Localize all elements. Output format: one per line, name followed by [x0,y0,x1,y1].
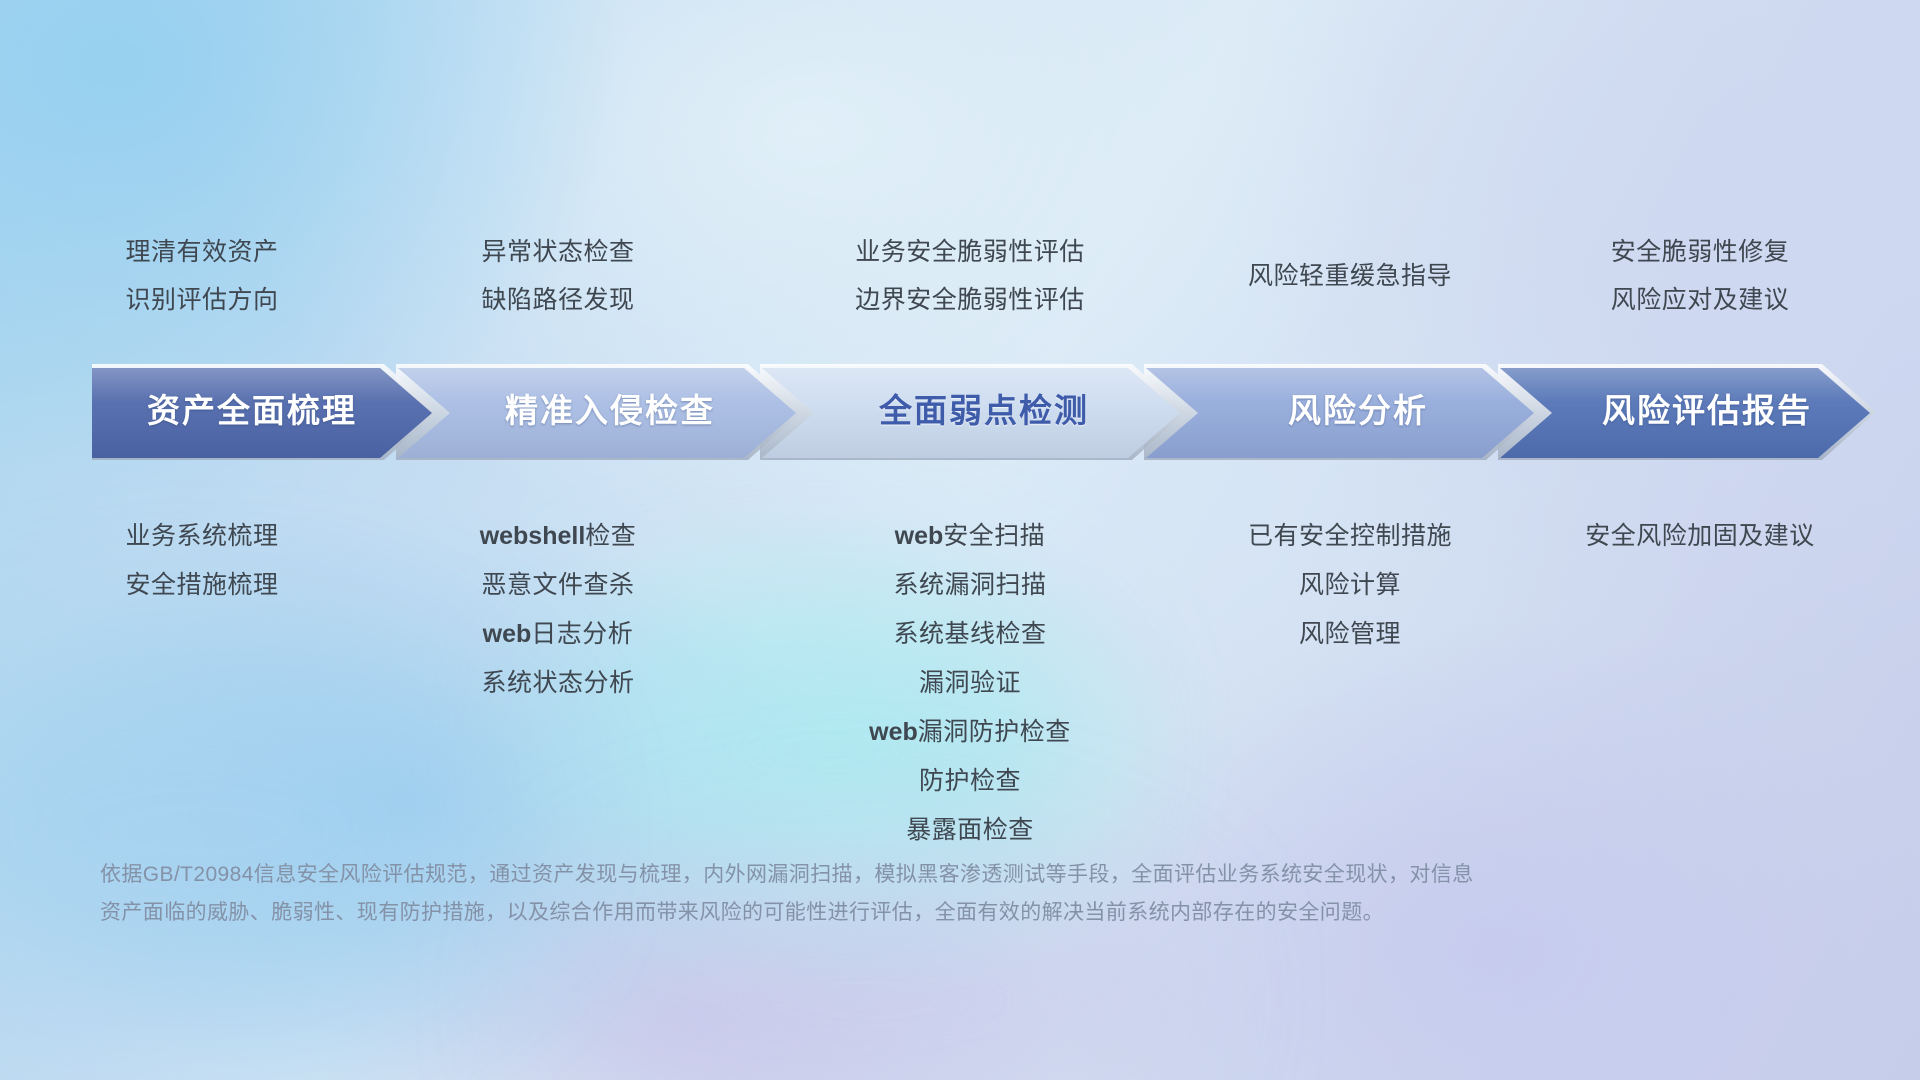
post-item: 恶意文件查杀 [392,561,724,610]
post-list: webshell检查恶意文件查杀web日志分析系统状态分析 [392,512,724,708]
post-item: 系统基线检查 [760,610,1180,659]
post-item: 风险计算 [1140,561,1560,610]
post-item: web日志分析 [392,610,724,659]
post-item: web安全扫描 [760,512,1180,561]
post-item-latin: web [869,718,918,746]
post-item: 风险管理 [1140,610,1560,659]
post-item: 已有安全控制措施 [1140,512,1560,561]
post-item: web漏洞防护检查 [760,708,1180,757]
post-item: 系统漏洞扫描 [760,561,1180,610]
post-item-latin: webshell [480,522,586,550]
post-item-latin: web [483,620,532,648]
footer-description: 依据GB/T20984信息安全风险评估规范，通过资产发现与梳理，内外网漏洞扫描，… [100,856,1620,932]
footer-line-2: 资产面临的威胁、脆弱性、现有防护措施，以及综合作用而带来风险的可能性进行评估，全… [100,894,1620,932]
post-list: 业务系统梳理安全措施梳理 [20,512,384,610]
post-item: 漏洞验证 [760,659,1180,708]
post-item: 防护检查 [760,757,1180,806]
post-item-latin: web [895,522,944,550]
footer-line-1: 依据GB/T20984信息安全风险评估规范，通过资产发现与梳理，内外网漏洞扫描，… [100,856,1620,894]
post-item: 安全措施梳理 [20,561,384,610]
post-item: 暴露面检查 [760,806,1180,855]
post-item: webshell检查 [392,512,724,561]
post-list: web安全扫描系统漏洞扫描系统基线检查漏洞验证web漏洞防护检查防护检查暴露面检… [760,512,1180,855]
slide-canvas: 理清有效资产 识别评估方向 异常状态检查 缺陷路径发现 业务安全脆弱性评估 边界… [0,0,1920,1080]
post-item: 业务系统梳理 [20,512,384,561]
post-list: 安全风险加固及建议 [1500,512,1900,561]
post-list: 已有安全控制措施风险计算风险管理 [1140,512,1560,659]
post-item: 安全风险加固及建议 [1500,512,1900,561]
post-item: 系统状态分析 [392,659,724,708]
